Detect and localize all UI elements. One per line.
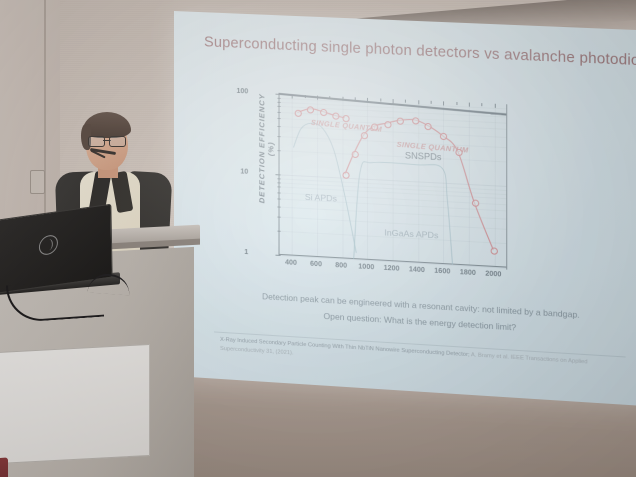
chart-curves	[252, 87, 516, 288]
glasses-lens-right	[109, 136, 126, 147]
chart-data-marker	[412, 117, 419, 124]
glasses	[88, 136, 126, 145]
chart-x-tick-label: 800	[328, 262, 355, 271]
chart-data-marker	[320, 109, 327, 116]
chart-series-2	[293, 122, 356, 253]
chart-series-3	[354, 161, 453, 265]
chart-data-marker	[424, 122, 431, 129]
chart-data-marker	[472, 200, 479, 208]
chart-y-tick-label: 1	[228, 248, 248, 256]
slide-captions: Detection peak can be engineered with a …	[226, 286, 617, 342]
chart-data-marker	[455, 148, 462, 155]
chart-x-tick-label: 1000	[353, 263, 380, 272]
chart-data-marker	[440, 133, 447, 140]
chart-x-tick-label: 2000	[480, 270, 507, 279]
laptop[interactable]	[0, 222, 122, 292]
slide-title: Superconducting single photon detectors …	[204, 34, 636, 69]
lectern-logo-panel: PTB	[0, 344, 150, 464]
presentation-photo: Superconducting single photon detectors …	[0, 0, 636, 477]
chart-y-tick-label: 100	[228, 87, 248, 95]
projected-slide: Superconducting single photon detectors …	[174, 11, 636, 406]
chart-x-tick-label: 600	[303, 260, 329, 269]
chart-x-tick-label: 400	[278, 259, 304, 268]
slide-citation: X-Ray Induced Secondary Particle Countin…	[220, 336, 632, 380]
red-object	[0, 457, 8, 477]
chart-x-tick-label: 1200	[378, 264, 405, 273]
chart-x-tick-label: 1800	[454, 269, 481, 278]
glasses-lens-left	[88, 136, 105, 147]
detection-efficiency-chart: DETECTION EFFICIENCY (%) SINGLE QUANTUM …	[252, 87, 516, 288]
chart-x-tick-label: 1400	[404, 266, 431, 275]
chart-y-tick-label: 10	[228, 168, 248, 176]
annotation-si-apds: Si APDs	[305, 192, 337, 204]
dell-logo-icon	[39, 233, 58, 257]
chart-data-marker	[384, 121, 391, 128]
annotation-snspds: SNSPDs	[405, 150, 442, 162]
chart-data-marker	[342, 172, 349, 179]
chart-x-tick-label: 1600	[429, 267, 456, 276]
